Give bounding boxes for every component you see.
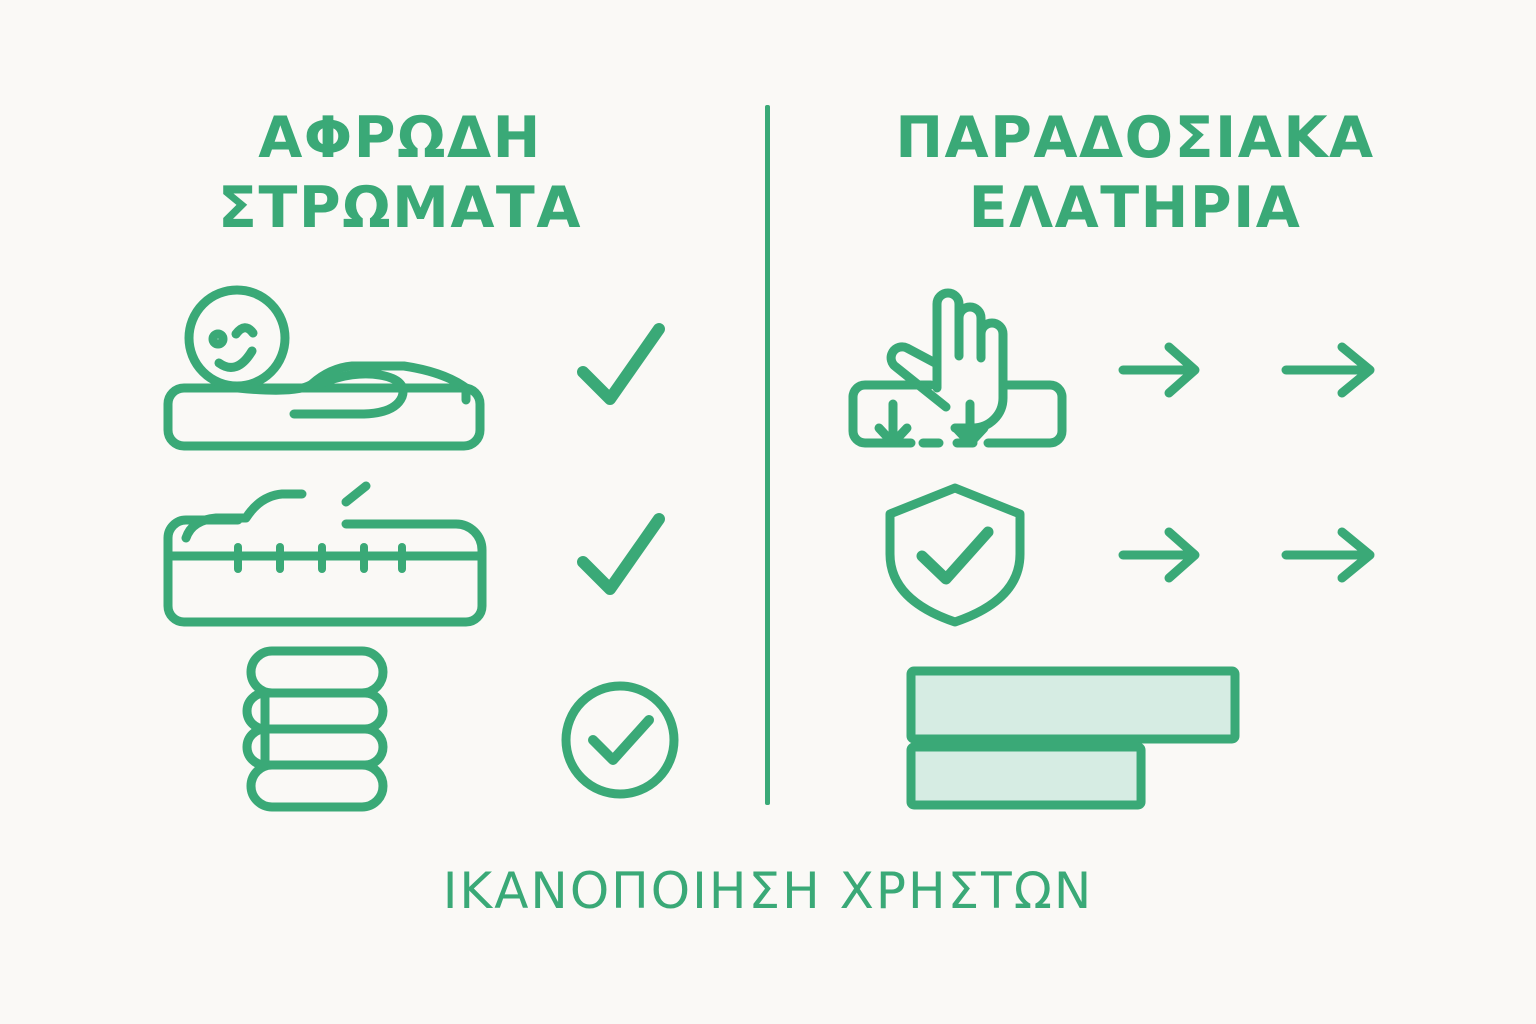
arrow-right-icon [1115, 335, 1215, 405]
hand-pressing-mattress-icon [845, 280, 1070, 465]
vertical-divider [765, 105, 770, 805]
comparison-infographic: ΑΦΡΩΔΗ ΣΤΡΩΜΑΤΑ ΠΑΡΑΔΟΣΙΑΚΑ ΕΛΑΤΗΡΙΑ [0, 0, 1536, 1024]
checkmark-icon [545, 490, 695, 620]
column-heading-left: ΑΦΡΩΔΗ ΣΤΡΩΜΑΤΑ [120, 104, 680, 243]
column-heading-right: ΠΑΡΑΔΟΣΙΑΚΑ ΕΛΑΤΗΡΙΑ [845, 104, 1425, 243]
person-sleeping-on-mattress-icon [160, 276, 490, 456]
arrow-right-icon [1115, 520, 1215, 590]
arrow-right-icon [1280, 335, 1390, 405]
bar-2 [911, 747, 1141, 805]
check-circle-icon [545, 665, 695, 815]
footer-caption: ΙΚΑΝΟΠΟΙΗΣΗ ΧΡΗΣΤΩΝ [0, 862, 1536, 920]
contoured-mattress-icon [160, 480, 490, 630]
horizontal-bar-chart-icon [905, 665, 1245, 810]
shield-check-icon [880, 480, 1030, 630]
bar-1 [911, 671, 1235, 739]
coil-spring-stack-icon [225, 645, 425, 815]
checkmark-icon [545, 300, 695, 430]
arrow-right-icon [1280, 520, 1390, 590]
